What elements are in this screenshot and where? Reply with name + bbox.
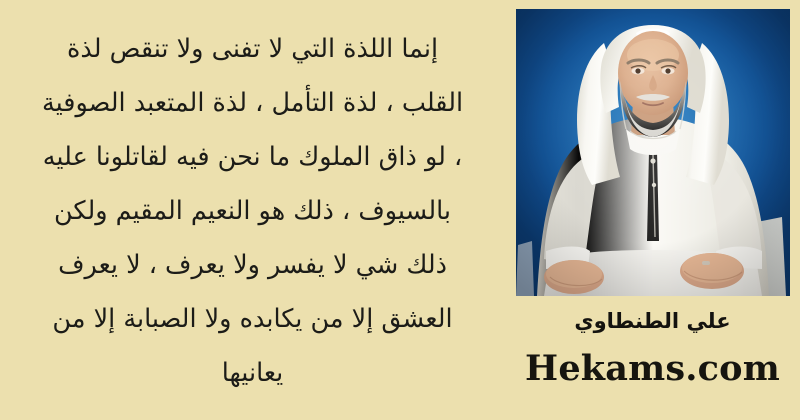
quote-line: بالسيوف ، ذلك هو النعيم المقيم ولكن: [6, 184, 499, 238]
author-portrait-photo: [516, 9, 790, 296]
author-portrait-frame: [516, 9, 790, 296]
quote-line: العشق إلا من يكابده ولا الصبابة إلا من: [6, 292, 499, 346]
author-name: علي الطنطاوي: [574, 306, 730, 336]
quote-text-block: إنما اللذة التي لا تفنى ولا تنقص لذة الق…: [0, 0, 505, 420]
quote-card: إنما اللذة التي لا تفنى ولا تنقص لذة الق…: [0, 0, 800, 420]
attribution-block: علي الطنطاوي Hekams.com: [505, 298, 800, 420]
quote-line: يعانيها: [6, 346, 499, 400]
quote-line: إنما اللذة التي لا تفنى ولا تنقص لذة: [6, 22, 499, 76]
quote-line: القلب ، لذة التأمل ، لذة المتعبد الصوفية: [6, 76, 499, 130]
site-name: Hekams.com: [525, 348, 780, 390]
quote-line: ، لو ذاق الملوك ما نحن فيه لقاتلونا عليه: [6, 130, 499, 184]
quote-line: ذلك شي لا يفسر ولا يعرف ، لا يعرف: [6, 238, 499, 292]
